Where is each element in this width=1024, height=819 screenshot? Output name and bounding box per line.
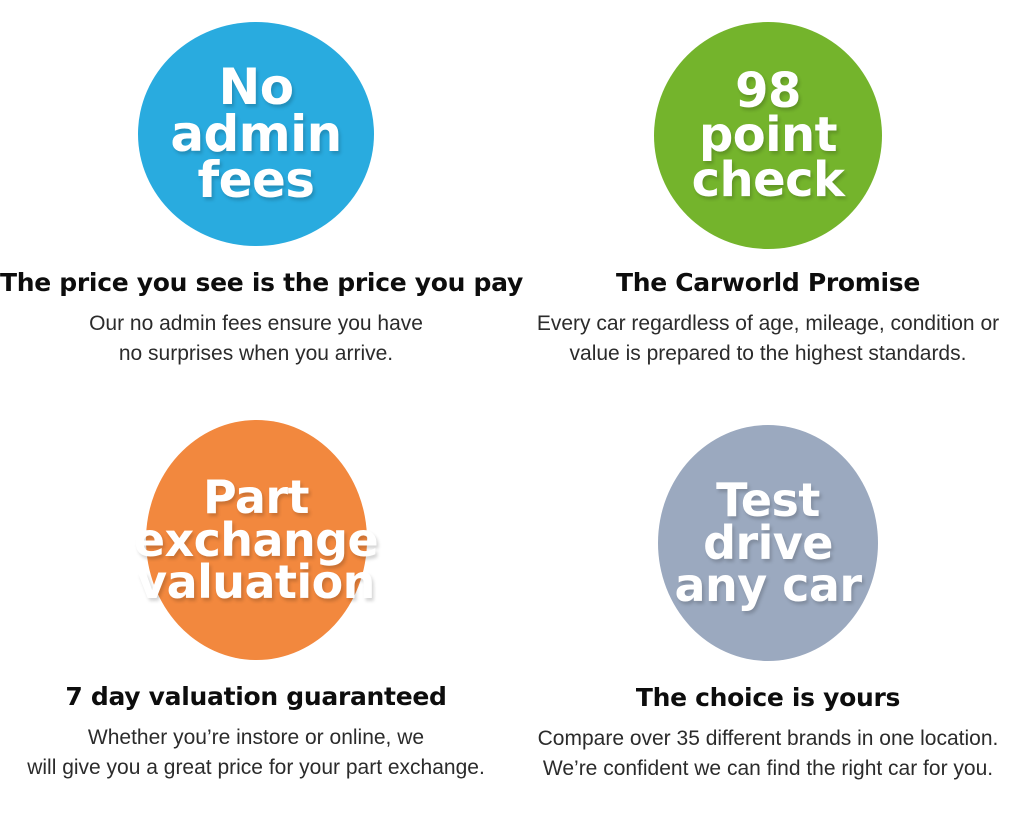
feature-body-line: will give you a great price for your par… [0, 753, 512, 783]
badge-line: valuation [134, 561, 378, 604]
feature-body-line: value is prepared to the highest standar… [512, 339, 1024, 369]
feature-card-98-point-check[interactable]: 98 point check The Carworld Promise Ever… [512, 0, 1024, 410]
feature-card-test-drive-any-car[interactable]: Test drive any car The choice is yours C… [512, 410, 1024, 819]
feature-body-line: Compare over 35 different brands in one … [512, 724, 1024, 754]
feature-heading: The choice is yours [512, 683, 1024, 712]
feature-body: Compare over 35 different brands in one … [512, 724, 1024, 784]
features-grid: No admin fees The price you see is the p… [0, 0, 1024, 819]
badge-circle-test-drive-any-car: Test drive any car [658, 425, 878, 661]
feature-body: Whether you’re instore or online, we wil… [0, 723, 512, 783]
badge-circle-no-admin-fees: No admin fees [138, 22, 374, 246]
feature-heading: The price you see is the price you pay [0, 268, 512, 297]
feature-heading: 7 day valuation guaranteed [0, 682, 512, 711]
badge-text: No admin fees [170, 64, 341, 204]
feature-body-line: no surprises when you arrive. [0, 339, 512, 369]
feature-body: Our no admin fees ensure you have no sur… [0, 309, 512, 369]
badge-circle-98-point-check: 98 point check [654, 22, 882, 249]
badge-text: 98 point check [692, 69, 845, 203]
badge-line: No [170, 64, 341, 111]
badge-line: check [692, 158, 845, 203]
badge-line: any car [675, 564, 862, 607]
feature-body-line: Our no admin fees ensure you have [0, 309, 512, 339]
feature-body-line: Whether you’re instore or online, we [0, 723, 512, 753]
badge-line: fees [170, 157, 341, 204]
badge-text: Test drive any car [675, 479, 862, 607]
feature-heading: The Carworld Promise [512, 268, 1024, 297]
badge-circle-part-exchange-valuation: Part exchange valuation [146, 420, 367, 660]
feature-body-line: Every car regardless of age, mileage, co… [512, 309, 1024, 339]
feature-card-no-admin-fees[interactable]: No admin fees The price you see is the p… [0, 0, 512, 410]
feature-body: Every car regardless of age, mileage, co… [512, 309, 1024, 369]
badge-text: Part exchange valuation [134, 476, 378, 604]
feature-card-part-exchange-valuation[interactable]: Part exchange valuation 7 day valuation … [0, 410, 512, 819]
feature-body-line: We’re confident we can find the right ca… [512, 754, 1024, 784]
